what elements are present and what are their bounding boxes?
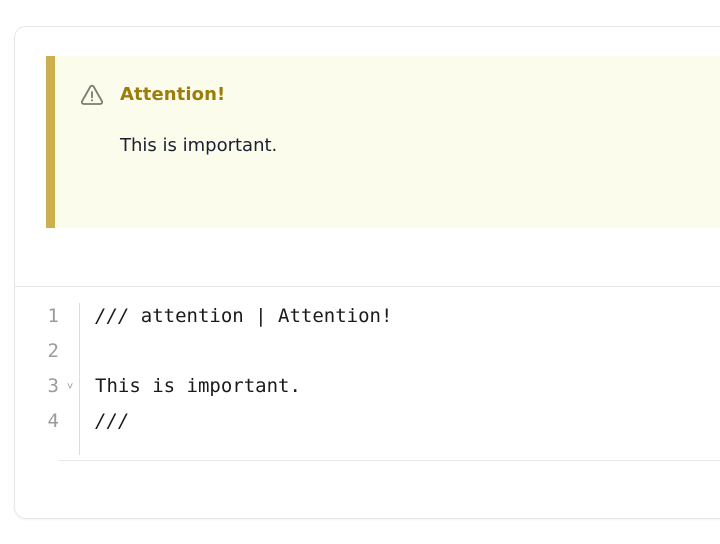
callout-body: Attention! This is important. [55, 56, 720, 228]
code-line-content: This is important. [95, 375, 301, 397]
warning-triangle-icon [79, 82, 105, 108]
callout-body-text: This is important. [120, 134, 720, 157]
chevron-down-icon[interactable]: ˅ [63, 369, 77, 404]
code-fence-token: /// [95, 410, 129, 432]
line-number: 4 [15, 404, 59, 439]
callout-title-row: Attention! [79, 82, 720, 108]
code-line-row[interactable]: 1 /// attention | Attention! [15, 299, 720, 334]
code-line-row[interactable]: 4 /// [15, 404, 720, 439]
code-line-text[interactable]: This is important. [95, 369, 301, 404]
line-number: 2 [15, 334, 59, 369]
code-line-text[interactable]: /// [95, 404, 129, 439]
code-line-row[interactable]: 3 ˅ This is important. [15, 369, 720, 404]
rendered-preview-pane: Attention! This is important. [15, 27, 720, 286]
code-line-content: attention | Attention! [129, 305, 392, 327]
callout-accent-bar [46, 56, 55, 228]
code-bottom-divider [59, 460, 720, 461]
preview-card: Attention! This is important. 1 /// atte… [14, 26, 720, 519]
code-fence-token: /// [95, 305, 129, 327]
line-number: 1 [15, 299, 59, 334]
source-code-pane[interactable]: 1 /// attention | Attention! 2 3 ˅ This … [15, 287, 720, 461]
callout-title: Attention! [120, 86, 225, 104]
attention-callout: Attention! This is important. [46, 56, 720, 228]
page-root: Attention! This is important. 1 /// atte… [0, 0, 720, 544]
code-line-text[interactable]: /// attention | Attention! [95, 299, 392, 334]
line-number: 3 [15, 369, 59, 404]
code-line-row[interactable]: 2 [15, 334, 720, 369]
card-footer-strip [15, 461, 720, 518]
code-grid[interactable]: 1 /// attention | Attention! 2 3 ˅ This … [15, 299, 720, 439]
